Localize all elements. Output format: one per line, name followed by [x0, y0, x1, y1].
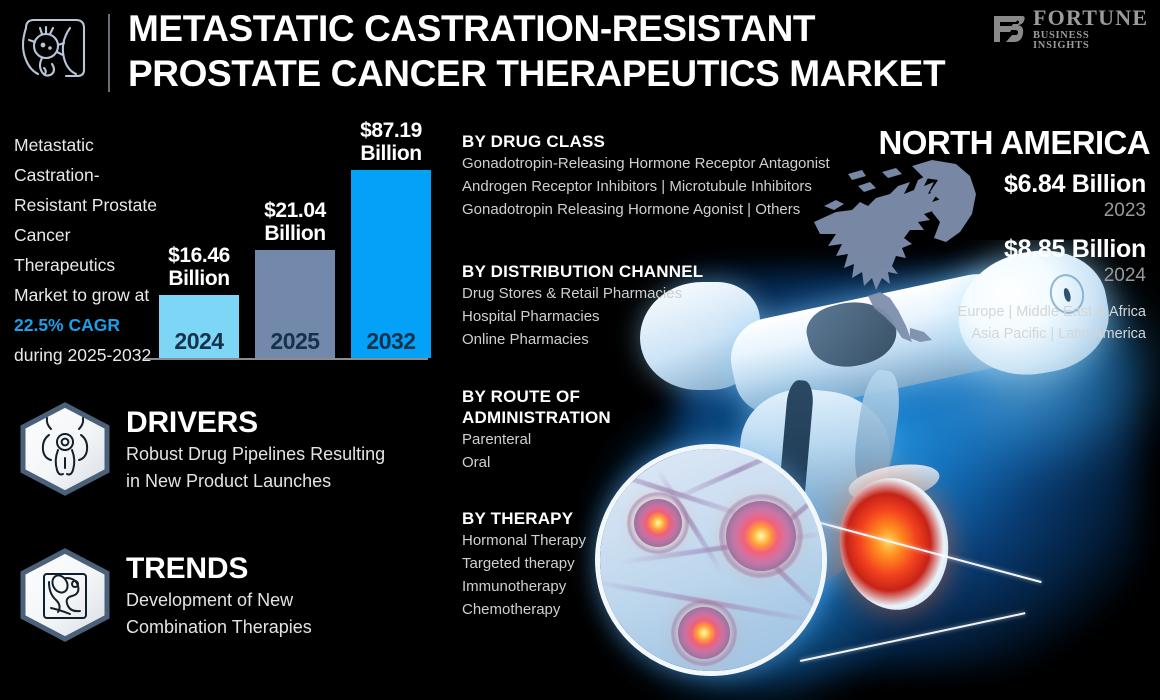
region-year-2023: 2023	[1104, 200, 1146, 222]
segment-heading: BY DRUG CLASS	[462, 131, 830, 152]
fortune-business-insights-logo: FORTUNE BUSINESS INSIGHTS	[990, 8, 1148, 50]
logo-primary-text: FORTUNE	[1033, 7, 1148, 29]
other-regions-list: Europe | Middle East & Africa Asia Pacif…	[958, 301, 1146, 345]
segment-item: Oral	[462, 451, 611, 474]
prostate-anatomy-icon	[14, 12, 94, 88]
bar-2024: $16.46 Billion 2024	[159, 295, 239, 358]
cancer-cell	[726, 501, 796, 571]
region-value-2023: $6.84 Billion	[1004, 170, 1146, 199]
infographic-canvas: METASTATIC CASTRATION-RESISTANT PROSTATE…	[0, 0, 1160, 700]
segment-item: Hospital Pharmacies	[462, 305, 703, 328]
bar-category-2024: 2024	[159, 328, 239, 355]
region-title: NORTH AMERICA	[872, 124, 1150, 162]
other-regions-line-2: Asia Pacific | Latin America	[971, 326, 1146, 342]
chart-baseline-axis	[145, 358, 428, 360]
segment-heading: BY DISTRIBUTION CHANNEL	[462, 261, 703, 282]
bar-2032: $87.19 Billion 2032	[351, 170, 431, 358]
market-size-bar-chart: $16.46 Billion 2024 $21.04 Billion 2025 …	[145, 120, 435, 360]
segment-route-of-administration: BY ROUTE OF ADMINISTRATION Parenteral Or…	[462, 386, 611, 474]
trends-title: TRENDS	[126, 552, 312, 586]
segment-item: Gonadotropin-Releasing Hormone Receptor …	[462, 152, 830, 175]
header: METASTATIC CASTRATION-RESISTANT PROSTATE…	[0, 0, 1160, 104]
segment-item: Gonadotropin Releasing Hormone Agonist |…	[462, 198, 830, 221]
segment-heading: BY THERAPY	[462, 508, 586, 529]
segment-item: Targeted therapy	[462, 552, 586, 575]
drivers-title: DRIVERS	[126, 406, 385, 440]
bar-category-2025: 2025	[255, 328, 335, 355]
segment-item: Online Pharmacies	[462, 328, 703, 351]
drivers-description: Robust Drug Pipelines Resulting in New P…	[126, 441, 385, 495]
trends-hexagon-icon	[18, 548, 112, 642]
lead-text-part-1: Metastatic Castration-Resistant Prostate…	[14, 135, 157, 305]
fbi-logo-mark	[990, 13, 1026, 45]
page-title: METASTATIC CASTRATION-RESISTANT PROSTATE…	[128, 6, 948, 96]
cancer-cells-inset	[595, 444, 827, 676]
segment-heading: BY ROUTE OF ADMINISTRATION	[462, 386, 611, 428]
segment-item: Drug Stores & Retail Pharmacies	[462, 282, 703, 305]
lead-text-part-2: during	[14, 345, 68, 365]
cancer-cell	[634, 499, 682, 547]
page-title-line-1: METASTATIC CASTRATION-RESISTANT	[128, 8, 815, 49]
insight-drivers: DRIVERS Robust Drug Pipelines Resulting …	[18, 402, 385, 496]
cancer-cell	[678, 607, 730, 659]
page-title-line-2: PROSTATE CANCER THERAPEUTICS MARKET	[128, 51, 948, 96]
segment-item: Parenteral	[462, 428, 611, 451]
drivers-hexagon-icon	[18, 402, 112, 496]
segment-therapy: BY THERAPY Hormonal Therapy Targeted the…	[462, 508, 586, 621]
region-year-2024: 2024	[1104, 265, 1146, 287]
bar-category-2032: 2032	[351, 328, 431, 355]
segment-item: Androgen Receptor Inhibitors | Microtubu…	[462, 175, 830, 198]
cagr-label: CAGR	[69, 315, 121, 335]
region-value-2024: $8.85 Billion	[1004, 235, 1146, 264]
trends-description: Development of New Combination Therapies	[126, 587, 312, 641]
drivers-text: DRIVERS Robust Drug Pipelines Resulting …	[112, 402, 385, 495]
segment-drug-class: BY DRUG CLASS Gonadotropin-Releasing Hor…	[462, 131, 830, 221]
bar-2025: $21.04 Billion 2025	[255, 250, 335, 358]
header-divider	[108, 14, 110, 92]
segment-item: Hormonal Therapy	[462, 529, 586, 552]
segment-item: Immunotherapy	[462, 575, 586, 598]
bar-value-2025: $21.04 Billion	[238, 199, 352, 250]
trends-text: TRENDS Development of New Combination Th…	[112, 548, 312, 641]
segment-item: Chemotherapy	[462, 598, 586, 621]
cagr-value: 22.5%	[14, 315, 64, 335]
bar-value-2032: $87.19 Billion	[334, 119, 448, 170]
forecast-period: 2025-2032	[68, 345, 152, 365]
segment-distribution-channel: BY DISTRIBUTION CHANNEL Drug Stores & Re…	[462, 261, 703, 351]
insight-trends: TRENDS Development of New Combination Th…	[18, 548, 312, 642]
other-regions-line-1: Europe | Middle East & Africa	[958, 304, 1146, 320]
bar-value-2024: $16.46 Billion	[142, 244, 256, 295]
logo-secondary-text: BUSINESS INSIGHTS	[1033, 31, 1148, 52]
